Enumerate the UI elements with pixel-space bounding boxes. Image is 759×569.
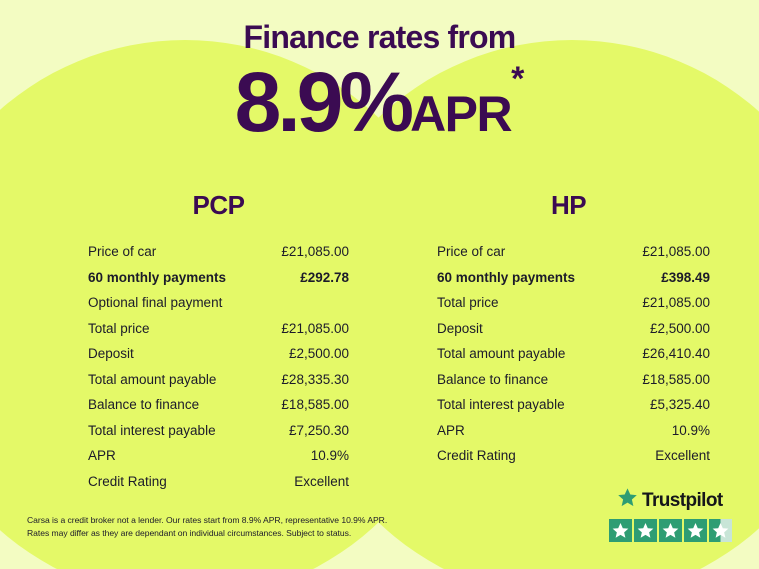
plan-rows-pcp: Price of car£21,085.0060 monthly payment…: [88, 239, 349, 494]
plan-row-value: 10.9%: [311, 449, 349, 463]
plan-row-label: Price of car: [88, 245, 156, 259]
plan-row: Total price£21,085.00: [437, 290, 710, 316]
plan-card-hp: HP Price of car£21,085.0060 monthly paym…: [379, 190, 758, 494]
trustpilot-wordmark: Trustpilot: [642, 491, 723, 510]
plan-title-pcp: PCP: [88, 190, 349, 221]
plan-row: Deposit£2,500.00: [437, 316, 710, 342]
plan-row-value: £5,325.40: [650, 398, 710, 412]
disclaimer: Carsa is a credit broker not a lender. O…: [27, 514, 457, 541]
plan-row: Credit RatingExcellent: [437, 443, 710, 469]
plan-row-value: 10.9%: [672, 424, 710, 438]
rate-asterisk: *: [511, 60, 524, 98]
trustpilot-badge[interactable]: Trustpilot: [609, 487, 737, 542]
plan-row: Balance to finance£18,585.00: [437, 367, 710, 393]
plan-row-label: Total amount payable: [88, 373, 216, 387]
finance-rates-poster: Finance rates from 8.9%APR* PCP Price of…: [0, 0, 759, 569]
rate-unit: APR: [410, 86, 511, 142]
plan-row: Total amount payable£28,335.30: [88, 367, 349, 393]
trustpilot-star-full: [634, 519, 657, 542]
plan-card-pcp: PCP Price of car£21,085.0060 monthly pay…: [0, 190, 379, 494]
plan-row-label: 60 monthly payments: [88, 271, 226, 285]
plan-row-value: £18,585.00: [281, 398, 349, 412]
rate-number: 8.9%: [235, 55, 410, 149]
plan-title-hp: HP: [427, 190, 710, 221]
plan-row-label: APR: [88, 449, 116, 463]
plan-row: 60 monthly payments£398.49: [437, 265, 710, 291]
poster-content: Finance rates from 8.9%APR* PCP Price of…: [0, 0, 759, 569]
plan-row-value: £28,335.30: [281, 373, 349, 387]
plan-row: Deposit£2,500.00: [88, 341, 349, 367]
plan-row: Total interest payable£7,250.30: [88, 418, 349, 444]
plan-row: Price of car£21,085.00: [88, 239, 349, 265]
plan-row: Total amount payable£26,410.40: [437, 341, 710, 367]
plan-row-value: £18,585.00: [642, 373, 710, 387]
trustpilot-star-half: [709, 519, 732, 542]
plan-row: Optional final payment: [88, 290, 349, 316]
plan-row-value: £21,085.00: [281, 245, 349, 259]
plan-row-label: Total amount payable: [437, 347, 565, 361]
plan-row-label: Total interest payable: [88, 424, 216, 438]
plan-row-label: Total price: [88, 322, 150, 336]
plan-row-label: Deposit: [437, 322, 483, 336]
plan-row: Total interest payable£5,325.40: [437, 392, 710, 418]
trustpilot-rating-stars: [609, 519, 737, 542]
finance-plans: PCP Price of car£21,085.0060 monthly pay…: [0, 190, 759, 494]
plan-row-label: Price of car: [437, 245, 505, 259]
plan-row-value: £398.49: [661, 271, 710, 285]
plan-row-label: Optional final payment: [88, 296, 222, 310]
plan-row-value: £21,085.00: [642, 245, 710, 259]
plan-row: Price of car£21,085.00: [437, 239, 710, 265]
plan-row-value: £7,250.30: [289, 424, 349, 438]
trustpilot-star-full: [659, 519, 682, 542]
plan-row-label: APR: [437, 424, 465, 438]
plan-row-label: Deposit: [88, 347, 134, 361]
trustpilot-header: Trustpilot: [617, 487, 737, 513]
plan-row: Credit RatingExcellent: [88, 469, 349, 495]
disclaimer-line-1: Carsa is a credit broker not a lender. O…: [27, 514, 457, 527]
plan-row-value: £2,500.00: [650, 322, 710, 336]
headline-rate: 8.9%APR*: [0, 60, 759, 144]
plan-row-value: £2,500.00: [289, 347, 349, 361]
plan-row-label: Balance to finance: [437, 373, 548, 387]
headline-kicker: Finance rates from: [0, 20, 759, 55]
trustpilot-star-full: [609, 519, 632, 542]
plan-row-label: Credit Rating: [437, 449, 516, 463]
plan-row: Total price£21,085.00: [88, 316, 349, 342]
plan-rows-hp: Price of car£21,085.0060 monthly payment…: [437, 239, 710, 469]
plan-row-value: £21,085.00: [642, 296, 710, 310]
plan-row-value: £292.78: [300, 271, 349, 285]
plan-row: Balance to finance£18,585.00: [88, 392, 349, 418]
plan-row-label: Balance to finance: [88, 398, 199, 412]
plan-row-label: Total price: [437, 296, 499, 310]
plan-row-label: Credit Rating: [88, 475, 167, 489]
plan-row: APR10.9%: [88, 443, 349, 469]
plan-row-value: £21,085.00: [281, 322, 349, 336]
disclaimer-line-2: Rates may differ as they are dependant o…: [27, 527, 457, 540]
plan-row: 60 monthly payments£292.78: [88, 265, 349, 291]
plan-row-label: Total interest payable: [437, 398, 565, 412]
trustpilot-star-full: [684, 519, 707, 542]
plan-row: APR10.9%: [437, 418, 710, 444]
plan-row-value: Excellent: [294, 475, 349, 489]
trustpilot-star-icon: [617, 487, 638, 513]
plan-row-value: £26,410.40: [642, 347, 710, 361]
plan-row-value: Excellent: [655, 449, 710, 463]
plan-row-label: 60 monthly payments: [437, 271, 575, 285]
